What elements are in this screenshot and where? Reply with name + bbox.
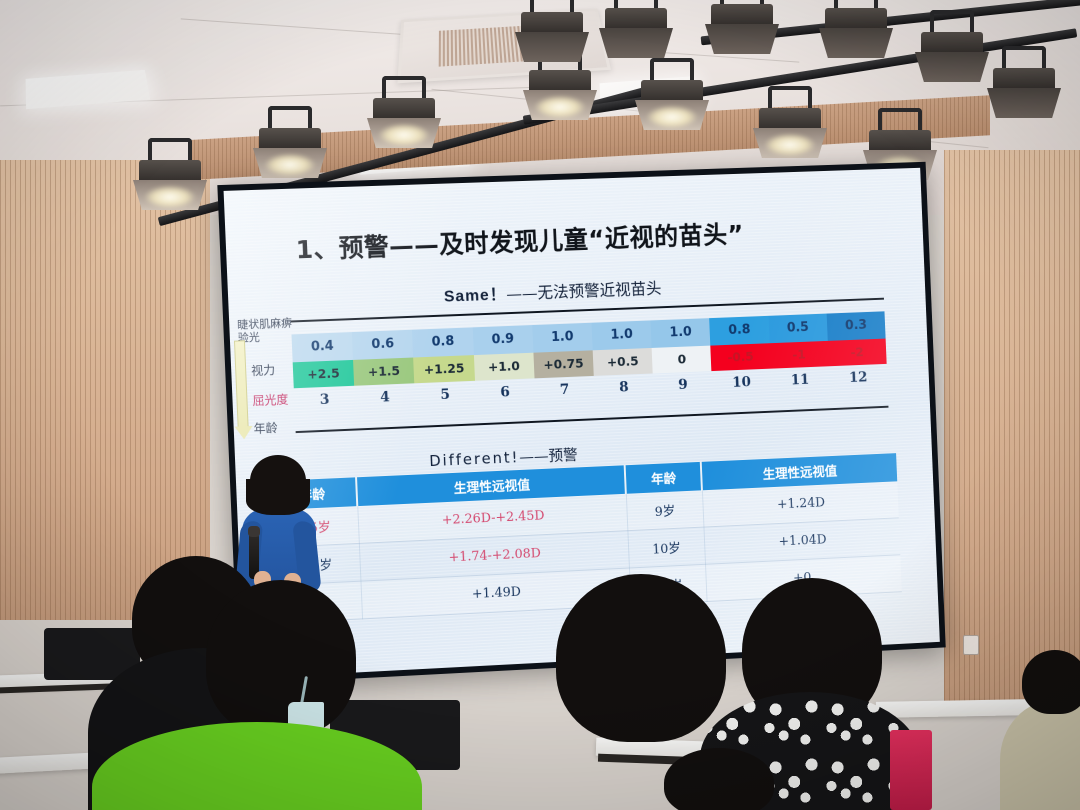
wall-wood-right [944, 150, 1080, 710]
audience-shoulders [1000, 700, 1080, 810]
heatmap-cell-diopter: +1.0 [474, 353, 535, 381]
arrow-down-icon [234, 340, 249, 428]
heatmap-cell-diopter: +1.25 [414, 355, 475, 383]
heatmap-cell-vision: 1.0 [651, 318, 711, 348]
different-label: Different! [429, 448, 520, 470]
heatmap-cell-vision: 0.6 [352, 330, 413, 360]
heatmap-cell-diopter: +1.5 [353, 357, 414, 385]
heatmap-cell-age: 5 [415, 381, 476, 409]
heatmap-cell-vision: 0.4 [291, 332, 353, 362]
slide-title: 1、预警——及时发现儿童“近视的苗头” [295, 215, 744, 266]
wall-switch[interactable] [963, 635, 979, 655]
heatmap-cell-vision: 0.8 [412, 327, 473, 357]
heatmap-cell-diopter: +2.5 [293, 360, 355, 388]
heatmap-cell-diopter: +0.5 [593, 348, 653, 376]
heatmap-cell-vision: 0.9 [472, 325, 533, 355]
row-label-vision: 视力 [251, 361, 276, 379]
heatmap-cell-age: 9 [653, 371, 713, 399]
heatmap-cell-vision: 1.0 [592, 320, 652, 350]
table-column-header: 年龄 [625, 462, 702, 494]
heatmap-cell-diopter-negative: -2 [828, 339, 887, 367]
heatmap-axis-label: 睫状肌麻痹验光 [237, 316, 300, 345]
audience-head [664, 748, 774, 810]
heatmap-cell-vision: 0.8 [710, 316, 770, 346]
heatmap-cell-age: 8 [594, 373, 654, 401]
row-label-diopter: 屈光度 [252, 390, 289, 408]
audience-head [206, 580, 356, 736]
heatmap-cell-age: 7 [534, 376, 595, 404]
heatmap-cell-vision: 0.5 [768, 314, 827, 344]
heatmap-cell-diopter: 0 [652, 346, 712, 374]
presenter-hair-back [246, 479, 310, 515]
audience-head [556, 574, 726, 742]
table-cell: 10岁 [628, 527, 706, 568]
same-text: ——无法预警近视苗头 [506, 279, 662, 304]
lecture-hall-scene: 1、预警——及时发现儿童“近视的苗头” Same！——无法预警近视苗头 睫状肌麻… [0, 0, 1080, 810]
same-caption: Same！——无法预警近视苗头 [443, 275, 661, 307]
heatmap-cell-diopter-negative: -1 [769, 341, 828, 369]
heatmap-chart: 0.40.60.80.91.01.01.00.80.50.3 +2.5+1.5+… [291, 311, 887, 414]
different-text: ——预警 [519, 446, 578, 466]
heatmap-cell-age: 3 [294, 386, 356, 414]
row-label-age: 年龄 [253, 419, 278, 437]
audience-head [1022, 650, 1080, 714]
pink-folder [890, 730, 932, 810]
heatmap-cell-age: 11 [770, 366, 829, 394]
different-caption: Different!——预警 [429, 444, 578, 471]
heatmap-cell-diopter-negative: -0.5 [711, 343, 771, 371]
table-cell: 9岁 [626, 490, 704, 530]
same-label: Same！ [444, 286, 507, 305]
heatmap-cell-age: 6 [475, 378, 536, 406]
heatmap-cell-vision: 1.0 [532, 323, 593, 353]
heatmap-cell-vision: 0.3 [826, 311, 885, 341]
heatmap-cell-age: 12 [829, 364, 888, 392]
heatmap-cell-age: 4 [354, 383, 415, 411]
heatmap-cell-diopter: +0.75 [533, 350, 594, 378]
heatmap-cell-age: 10 [712, 369, 772, 397]
